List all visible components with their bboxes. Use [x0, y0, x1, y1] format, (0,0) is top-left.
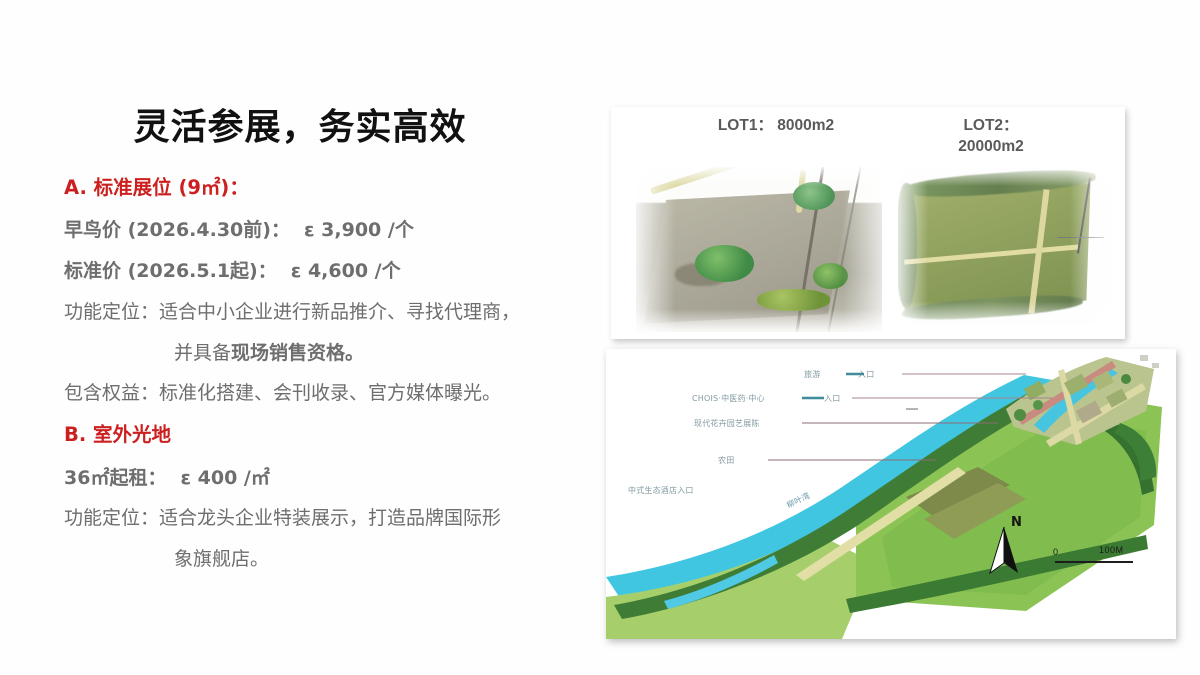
standard-price-line: 标准价 (2026.5.1起)：ε 4,600 /个 — [64, 260, 610, 284]
function-b-line: 功能定位：适合龙头企业特装展示，打造品牌国际形 — [64, 507, 610, 531]
village-tree — [1014, 409, 1026, 421]
lot1-aerial-photo — [636, 167, 882, 332]
plan-label-entry-1: 入口 — [858, 369, 874, 380]
function-a-prefix: 并具备 — [174, 342, 231, 364]
function-b-line-2: 象旗舰店。 — [64, 548, 610, 572]
lot2-label: LOT2： 20000m2 — [911, 116, 1071, 158]
master-plan-card: 旅游 入口 CHOIS·中医药·中心 入口 现代花卉园艺展陈 农田 中式生态酒店… — [606, 349, 1176, 639]
plan-label-farmland: 农田 — [718, 455, 734, 466]
lot2-label-line1: LOT2： — [963, 117, 1018, 134]
early-bird-price: ε 3,900 /个 — [304, 219, 414, 241]
function-a-value: 适合中小企业进行新品推介、寻找代理商， — [159, 301, 520, 323]
building-small — [1152, 363, 1159, 368]
lot2-label-line2: 20000m2 — [958, 138, 1024, 155]
plan-label-hotel: 旅游 — [804, 369, 820, 380]
page-title: 灵活参展，务实高效 — [0, 98, 600, 150]
benefits-line: 包含权益：标准化搭建、会刊收录、官方媒体曝光。 — [64, 382, 610, 406]
early-bird-label: 早鸟价 (2026.4.30前)： — [64, 219, 290, 241]
section-a-heading-text: A. 标准展位 (9㎡)： — [64, 176, 249, 199]
lot2-photo-vignette — [898, 167, 1113, 327]
plan-label-cn-hotel-entry: 中式生态酒店入口 — [628, 485, 694, 496]
min-area-line: 36㎡起租：ε 400 /㎡ — [64, 467, 610, 491]
plan-label-garden-exhibit: 现代花卉园艺展陈 — [694, 418, 760, 429]
function-a-emphasis: 现场销售资格 — [231, 342, 345, 364]
min-area-label: 36㎡起租： — [64, 467, 166, 489]
section-heading-a: A. 标准展位 (9㎡)： — [64, 176, 610, 200]
slide-root: 灵活参展，务实高效 A. 标准展位 (9㎡)： 早鸟价 (2026.4.30前)… — [0, 0, 1200, 675]
scale-bar — [1055, 561, 1133, 563]
lot1-label: LOT1： 8000m2 — [661, 116, 891, 137]
function-b-label: 功能定位： — [64, 507, 159, 529]
lot2-aerial-photo — [898, 167, 1113, 327]
lot-photos-card: LOT1： 8000m2 LOT2： 20000m2 — [611, 107, 1125, 339]
section-heading-b: B. 室外光地 — [64, 423, 610, 447]
north-label: N — [1011, 515, 1022, 530]
function-b-value-2: 象旗舰店。 — [174, 548, 269, 570]
building-small — [1140, 355, 1148, 361]
function-a-line: 功能定位：适合中小企业进行新品推介、寻找代理商， — [64, 301, 610, 325]
function-a-label: 功能定位： — [64, 301, 159, 323]
section-b-heading-text: B. 室外光地 — [64, 423, 171, 446]
body-content: A. 标准展位 (9㎡)： 早鸟价 (2026.4.30前)：ε 3,900 /… — [64, 176, 610, 589]
lot1-photo-vignette — [636, 167, 882, 332]
lot-labels: LOT1： 8000m2 LOT2： 20000m2 — [611, 111, 1125, 173]
standard-price-value: ε 4,600 /个 — [291, 260, 401, 282]
benefits-label: 包含权益： — [64, 382, 159, 404]
function-a-line-2: 并具备现场销售资格。 — [64, 342, 610, 366]
scale-start-label: 0 — [1053, 547, 1058, 557]
plan-label-entry-2: 入口 — [824, 393, 840, 404]
scale-end-label: 100M — [1099, 545, 1124, 555]
compass-and-scale: N 0 100M — [991, 517, 1141, 573]
min-area-price: ε 400 /㎡ — [180, 467, 269, 489]
standard-price-label: 标准价 (2026.5.1起)： — [64, 260, 277, 282]
village-tree — [1033, 400, 1043, 410]
village-tree — [1121, 374, 1131, 384]
plan-label-chois-center: CHOIS·中医药·中心 — [692, 393, 765, 404]
function-a-suffix: 。 — [345, 342, 364, 364]
benefits-value: 标准化搭建、会刊收录、官方媒体曝光。 — [159, 382, 501, 404]
left-text-column: 灵活参展，务实高效 A. 标准展位 (9㎡)： 早鸟价 (2026.4.30前)… — [0, 0, 610, 675]
function-b-value: 适合龙头企业特装展示，打造品牌国际形 — [159, 507, 501, 529]
early-bird-line: 早鸟价 (2026.4.30前)：ε 3,900 /个 — [64, 219, 610, 243]
